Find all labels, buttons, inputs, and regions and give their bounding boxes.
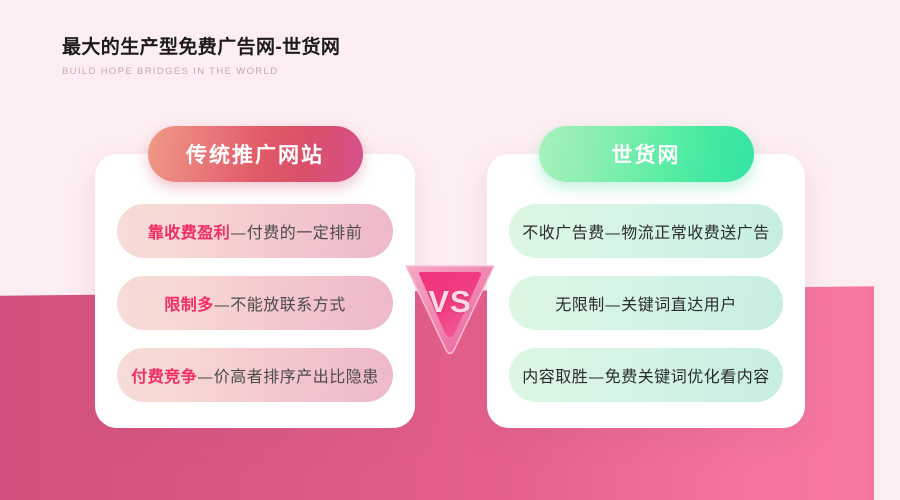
card-traditional: 靠收费盈利—付费的一定排前 限制多—不能放联系方式 付费竞争—价高者排序产出比隐…: [95, 154, 415, 428]
list-item: 限制多—不能放联系方式: [117, 276, 393, 330]
page-subtitle: BUILD HOPE BRIDGES IN THE WORLD: [62, 66, 340, 77]
item-rest: —物流正常收费送广告: [605, 219, 770, 243]
column-traditional: 传统推广网站 靠收费盈利—付费的一定排前 限制多—不能放联系方式 付费竞争—价高…: [95, 126, 415, 428]
column-shihuowang: 世货网 不收广告费—物流正常收费送广告 无限制—关键词直达用户 内容取胜—免费关…: [487, 126, 805, 428]
list-item: 无限制—关键词直达用户: [509, 276, 783, 330]
comparison-infographic: 最大的生产型免费广告网-世货网 BUILD HOPE BRIDGES IN TH…: [0, 0, 900, 500]
vs-badge: VS: [398, 258, 502, 362]
item-keyword: 限制多: [164, 291, 214, 315]
background-right-strip: [874, 0, 900, 500]
header: 最大的生产型免费广告网-世货网 BUILD HOPE BRIDGES IN TH…: [62, 32, 340, 77]
heading-pill-traditional: 传统推广网站: [148, 126, 363, 182]
list-item: 内容取胜—免费关键词优化看内容: [509, 348, 783, 402]
heading-pill-shihuowang: 世货网: [539, 126, 754, 182]
item-keyword: 内容取胜: [522, 363, 588, 387]
item-keyword: 不收广告费: [522, 219, 605, 243]
item-keyword: 靠收费盈利: [148, 219, 231, 243]
list-item: 付费竞争—价高者排序产出比隐患: [117, 348, 393, 402]
item-rest: —价高者排序产出比隐患: [197, 363, 379, 387]
item-keyword: 付费竞争: [131, 363, 197, 387]
page-title: 最大的生产型免费广告网-世货网: [62, 32, 340, 59]
list-item: 不收广告费—物流正常收费送广告: [509, 204, 783, 258]
background-band-fill: [0, 428, 900, 500]
triangle-down-icon: [398, 258, 502, 362]
item-rest: —关键词直达用户: [605, 291, 737, 315]
item-rest: —免费关键词优化看内容: [588, 363, 770, 387]
list-item: 靠收费盈利—付费的一定排前: [117, 204, 393, 258]
card-shihuowang: 不收广告费—物流正常收费送广告 无限制—关键词直达用户 内容取胜—免费关键词优化…: [487, 154, 805, 428]
item-rest: —不能放联系方式: [214, 291, 346, 315]
item-rest: —付费的一定排前: [230, 219, 362, 243]
item-keyword: 无限制: [555, 291, 605, 315]
